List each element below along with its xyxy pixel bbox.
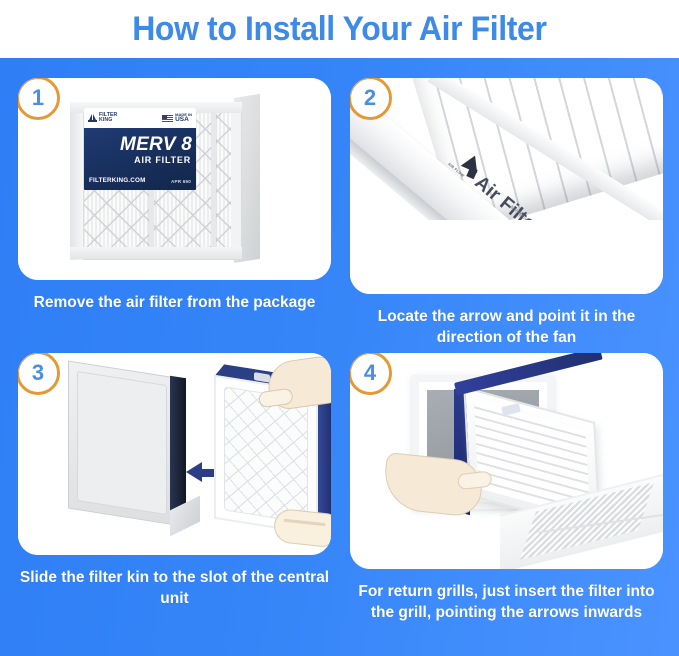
filter-product-label: FILTER KING MADE IN USA	[84, 108, 196, 190]
filter-into-central-unit-illustration	[18, 353, 331, 555]
infographic-page: How to Install Your Air Filter	[0, 0, 679, 656]
steps-grid: FILTER KING MADE IN USA	[0, 58, 679, 656]
page-title: How to Install Your Air Filter	[132, 10, 546, 49]
filter-left-edge	[70, 102, 84, 260]
step-2-card: AIR FLOW Air Filter AIRFLOW 2	[350, 78, 663, 294]
merv-rating: MERV 8	[84, 134, 192, 156]
step-2-caption: Locate the arrow and point it in the dir…	[350, 306, 663, 349]
step-1: FILTER KING MADE IN USA	[18, 78, 331, 346]
crown-icon	[88, 114, 97, 122]
step-1-caption: Remove the air filter from the package	[18, 292, 331, 313]
filter-into-return-grill-illustration	[350, 353, 663, 569]
usa-flag-icon	[162, 115, 173, 122]
air-filter-product-photo: FILTER KING MADE IN USA	[18, 78, 331, 280]
central-unit-panel	[77, 371, 167, 515]
label-footer-strip: FILTERKING.COM APR 650	[89, 177, 191, 184]
made-in-usa-lockup: MADE IN USA	[162, 113, 192, 124]
central-unit-body	[68, 360, 176, 525]
filter-support-rib	[211, 112, 216, 250]
label-header-strip: FILTER KING MADE IN USA	[84, 108, 196, 128]
country-label: USA	[175, 117, 192, 124]
step-3-caption: Slide the filter kin to the slot of the …	[18, 567, 331, 610]
step-4-caption: For return grills, just insert the filte…	[350, 581, 663, 624]
step-2: AIR FLOW Air Filter AIRFLOW 2 Locate the…	[350, 78, 663, 356]
step-1-card: FILTER KING MADE IN USA	[18, 78, 331, 280]
made-in-usa-text: MADE IN USA	[175, 113, 192, 124]
step-3: 3 Slide the filter kin to the slot of th…	[18, 353, 331, 621]
photo-lower-background	[350, 220, 663, 294]
filter-bottom-edge	[70, 247, 242, 259]
product-type: AIR FILTER	[84, 155, 191, 165]
filter-box-graphic: FILTER KING MADE IN USA	[70, 98, 260, 263]
brand-line-2: KING	[99, 117, 112, 123]
step-3-card: 3	[18, 353, 331, 555]
step-4-card: 4	[350, 353, 663, 569]
apr-rating-text: APR 650	[171, 179, 191, 184]
step-4: 4 For return grills, just insert the fil…	[350, 353, 663, 641]
brand-name: FILTER KING	[99, 113, 117, 124]
website-text: FILTERKING.COM	[89, 177, 146, 184]
hand-lower	[272, 508, 331, 548]
brand-lockup: FILTER KING	[88, 113, 117, 124]
hand-upper	[265, 354, 331, 411]
header-bar: How to Install Your Air Filter	[0, 0, 679, 58]
steps-board: FILTER KING MADE IN USA	[0, 58, 679, 656]
air-filter-corner-arrow-photo: AIR FLOW Air Filter AIRFLOW	[350, 78, 663, 294]
